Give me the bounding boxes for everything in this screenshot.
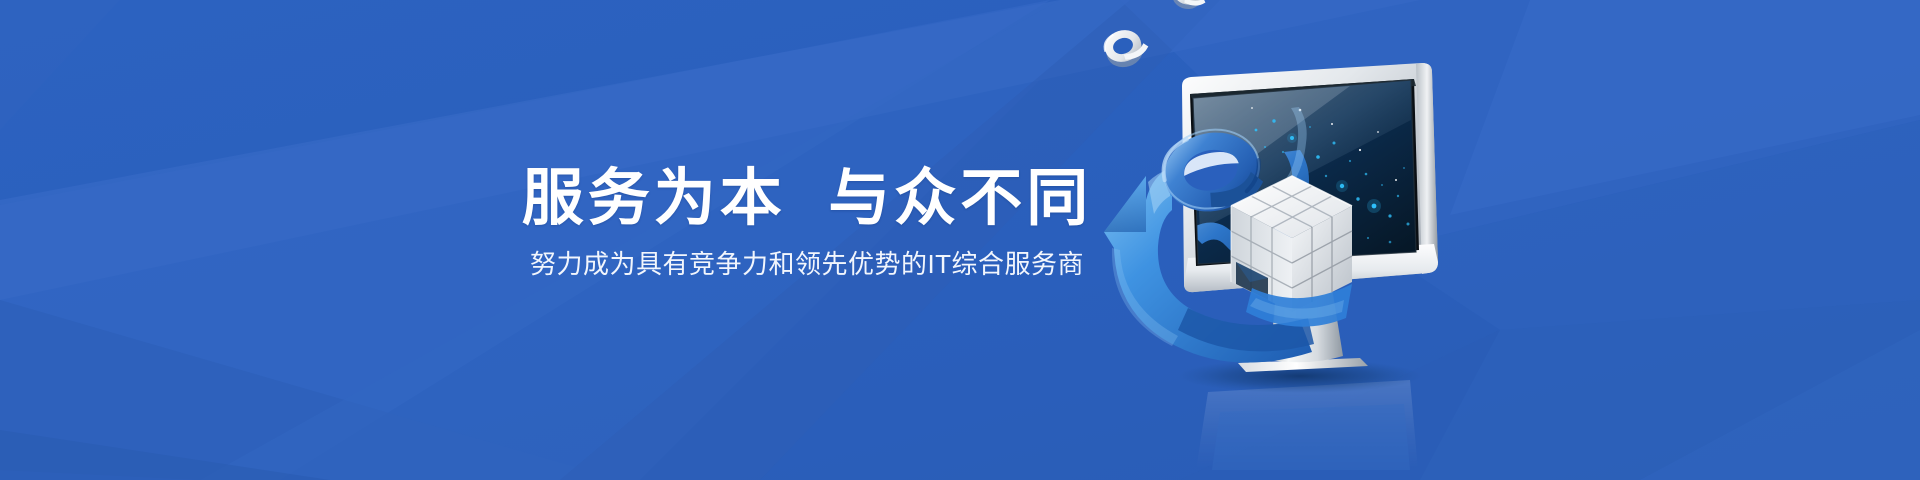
page-title: 服务为本 与众不同	[497, 166, 1117, 231]
hero-banner: 服务为本 与众不同 努力成为具有竞争力和领先优势的IT综合服务商	[0, 0, 1920, 480]
hero-illustration	[1060, 0, 1490, 480]
internet-explorer-logo-small-2	[1101, 24, 1153, 72]
page-subtitle: 努力成为具有竞争力和领先优势的IT综合服务商	[497, 249, 1117, 280]
monitor-reflection	[1196, 380, 1418, 470]
internet-explorer-logo-small-1	[1170, 0, 1209, 13]
banner-text-block: 服务为本 与众不同 努力成为具有竞争力和领先优势的IT综合服务商	[497, 166, 1117, 280]
rubiks-cube	[1231, 176, 1352, 312]
